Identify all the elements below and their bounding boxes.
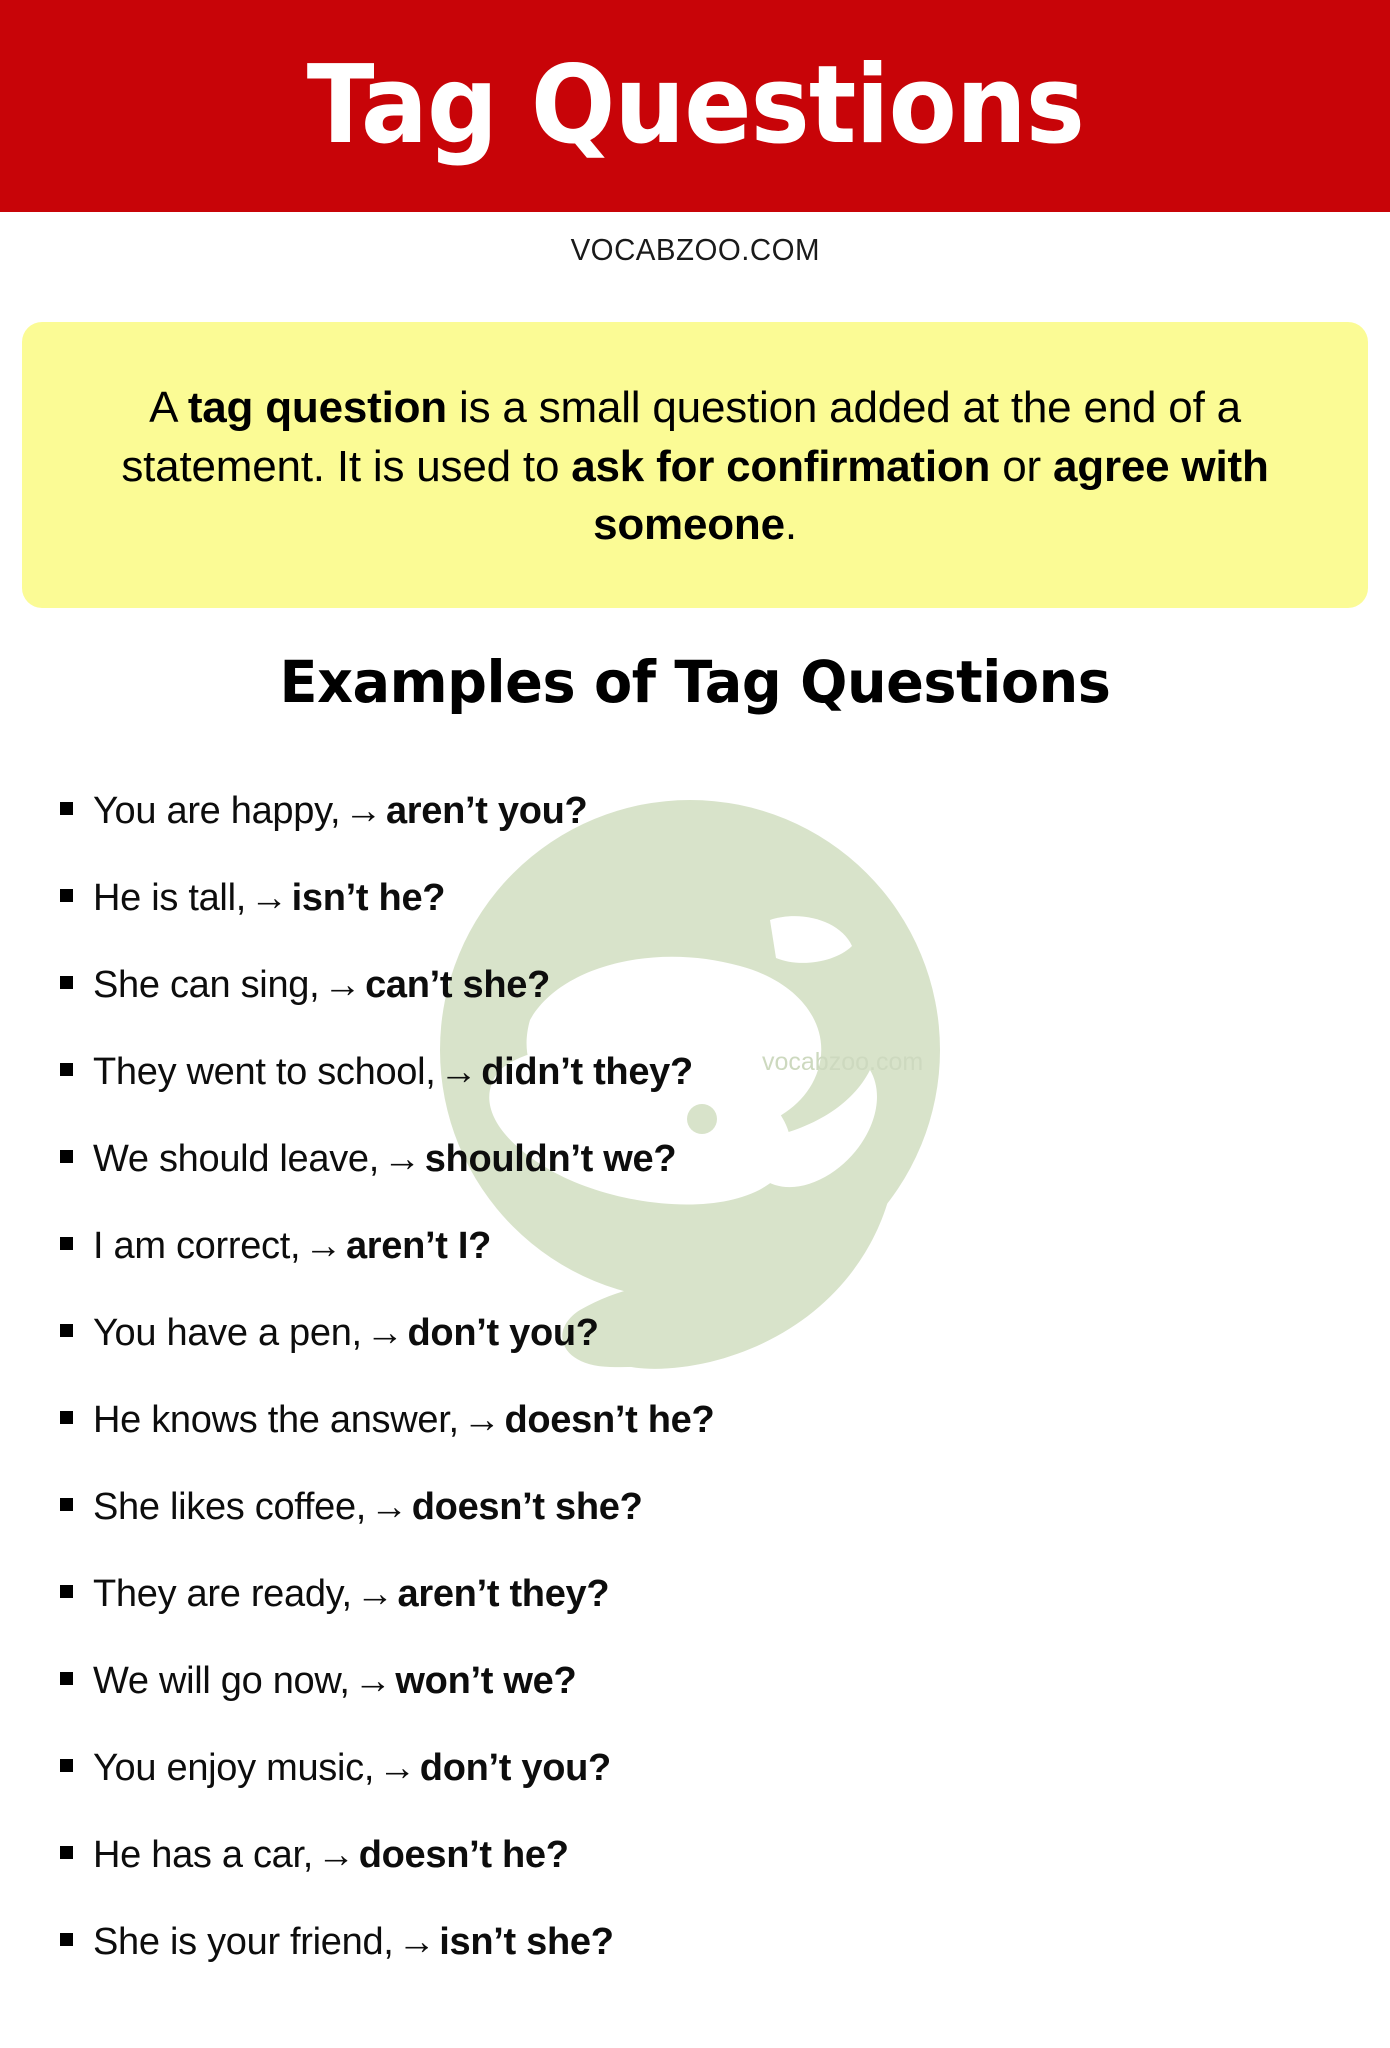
site-url: VOCABZOO.COM [570, 232, 820, 268]
example-statement: You enjoy music, [93, 1747, 374, 1790]
definition-text: A tag question is a small question added… [68, 379, 1322, 555]
example-tag: doesn’t he? [504, 1399, 714, 1442]
bullet-square-icon [60, 1846, 73, 1859]
example-item: I am correct, → aren’t I? [60, 1225, 1340, 1312]
bullet-square-icon [60, 976, 73, 989]
page-title: Tag Questions [306, 52, 1083, 160]
right-arrow-icon: → [374, 1747, 420, 1790]
example-statement: We should leave, [93, 1138, 379, 1181]
example-tag: doesn’t he? [359, 1834, 569, 1877]
example-statement: He is tall, [93, 877, 246, 920]
definition-box: A tag question is a small question added… [22, 322, 1368, 608]
example-statement: We will go now, [93, 1660, 350, 1703]
example-statement: They are ready, [93, 1573, 352, 1616]
bullet-square-icon [60, 889, 73, 902]
example-item: They went to school, → didn’t they? [60, 1051, 1340, 1138]
example-tag: isn’t he? [292, 877, 446, 920]
example-statement: He has a car, [93, 1834, 313, 1877]
right-arrow-icon: → [350, 1660, 396, 1703]
example-item: We should leave, → shouldn’t we? [60, 1138, 1340, 1225]
example-item: She likes coffee, → doesn’t she? [60, 1486, 1340, 1573]
examples-heading: Examples of Tag Questions [28, 648, 1362, 716]
example-tag: aren’t they? [398, 1573, 610, 1616]
right-arrow-icon: → [246, 877, 292, 920]
right-arrow-icon: → [436, 1051, 482, 1094]
bullet-square-icon [60, 1585, 73, 1598]
examples-list: You are happy, → aren’t you?He is tall, … [60, 790, 1340, 2008]
bullet-square-icon [60, 802, 73, 815]
bullet-square-icon [60, 1933, 73, 1946]
right-arrow-icon: → [313, 1834, 359, 1877]
example-tag: isn’t she? [439, 1921, 613, 1964]
example-item: They are ready, → aren’t they? [60, 1573, 1340, 1660]
right-arrow-icon: → [459, 1399, 505, 1442]
right-arrow-icon: → [394, 1921, 440, 1964]
example-tag: don’t you? [408, 1312, 599, 1355]
example-item: He knows the answer, → doesn’t he? [60, 1399, 1340, 1486]
right-arrow-icon: → [362, 1312, 408, 1355]
right-arrow-icon: → [379, 1138, 425, 1181]
bullet-square-icon [60, 1411, 73, 1424]
site-url-row: VOCABZOO.COM [0, 232, 1390, 268]
example-tag: shouldn’t we? [425, 1138, 677, 1181]
bullet-square-icon [60, 1324, 73, 1337]
example-statement: She can sing, [93, 964, 319, 1007]
right-arrow-icon: → [300, 1225, 346, 1268]
example-tag: aren’t I? [346, 1225, 491, 1268]
right-arrow-icon: → [352, 1573, 398, 1616]
bullet-square-icon [60, 1237, 73, 1250]
example-statement: You have a pen, [93, 1312, 362, 1355]
example-item: He has a car, → doesn’t he? [60, 1834, 1340, 1921]
bullet-square-icon [60, 1063, 73, 1076]
bullet-square-icon [60, 1759, 73, 1772]
example-item: You are happy, → aren’t you? [60, 790, 1340, 877]
right-arrow-icon: → [319, 964, 365, 1007]
right-arrow-icon: → [366, 1486, 412, 1529]
header-banner: Tag Questions [0, 0, 1390, 212]
example-tag: won’t we? [395, 1660, 576, 1703]
example-item: He is tall, → isn’t he? [60, 877, 1340, 964]
example-statement: They went to school, [93, 1051, 436, 1094]
example-statement: She likes coffee, [93, 1486, 366, 1529]
example-statement: He knows the answer, [93, 1399, 459, 1442]
example-item: We will go now, → won’t we? [60, 1660, 1340, 1747]
bullet-square-icon [60, 1498, 73, 1511]
example-item: You have a pen, → don’t you? [60, 1312, 1340, 1399]
bullet-square-icon [60, 1672, 73, 1685]
definition-emphasis: tag question [188, 383, 447, 432]
example-tag: didn’t they? [481, 1051, 693, 1094]
definition-run: or [990, 442, 1053, 491]
definition-run: A [149, 383, 188, 432]
example-tag: don’t you? [420, 1747, 611, 1790]
definition-emphasis: ask for confirmation [571, 442, 990, 491]
example-tag: aren’t you? [386, 790, 588, 833]
example-tag: doesn’t she? [412, 1486, 643, 1529]
example-statement: I am correct, [93, 1225, 300, 1268]
example-tag: can’t she? [365, 964, 550, 1007]
example-statement: You are happy, [93, 790, 340, 833]
example-item: She is your friend, → isn’t she? [60, 1921, 1340, 2008]
definition-run: . [785, 500, 797, 549]
example-item: You enjoy music, → don’t you? [60, 1747, 1340, 1834]
bullet-square-icon [60, 1150, 73, 1163]
example-item: She can sing, → can’t she? [60, 964, 1340, 1051]
right-arrow-icon: → [340, 790, 386, 833]
example-statement: She is your friend, [93, 1921, 394, 1964]
